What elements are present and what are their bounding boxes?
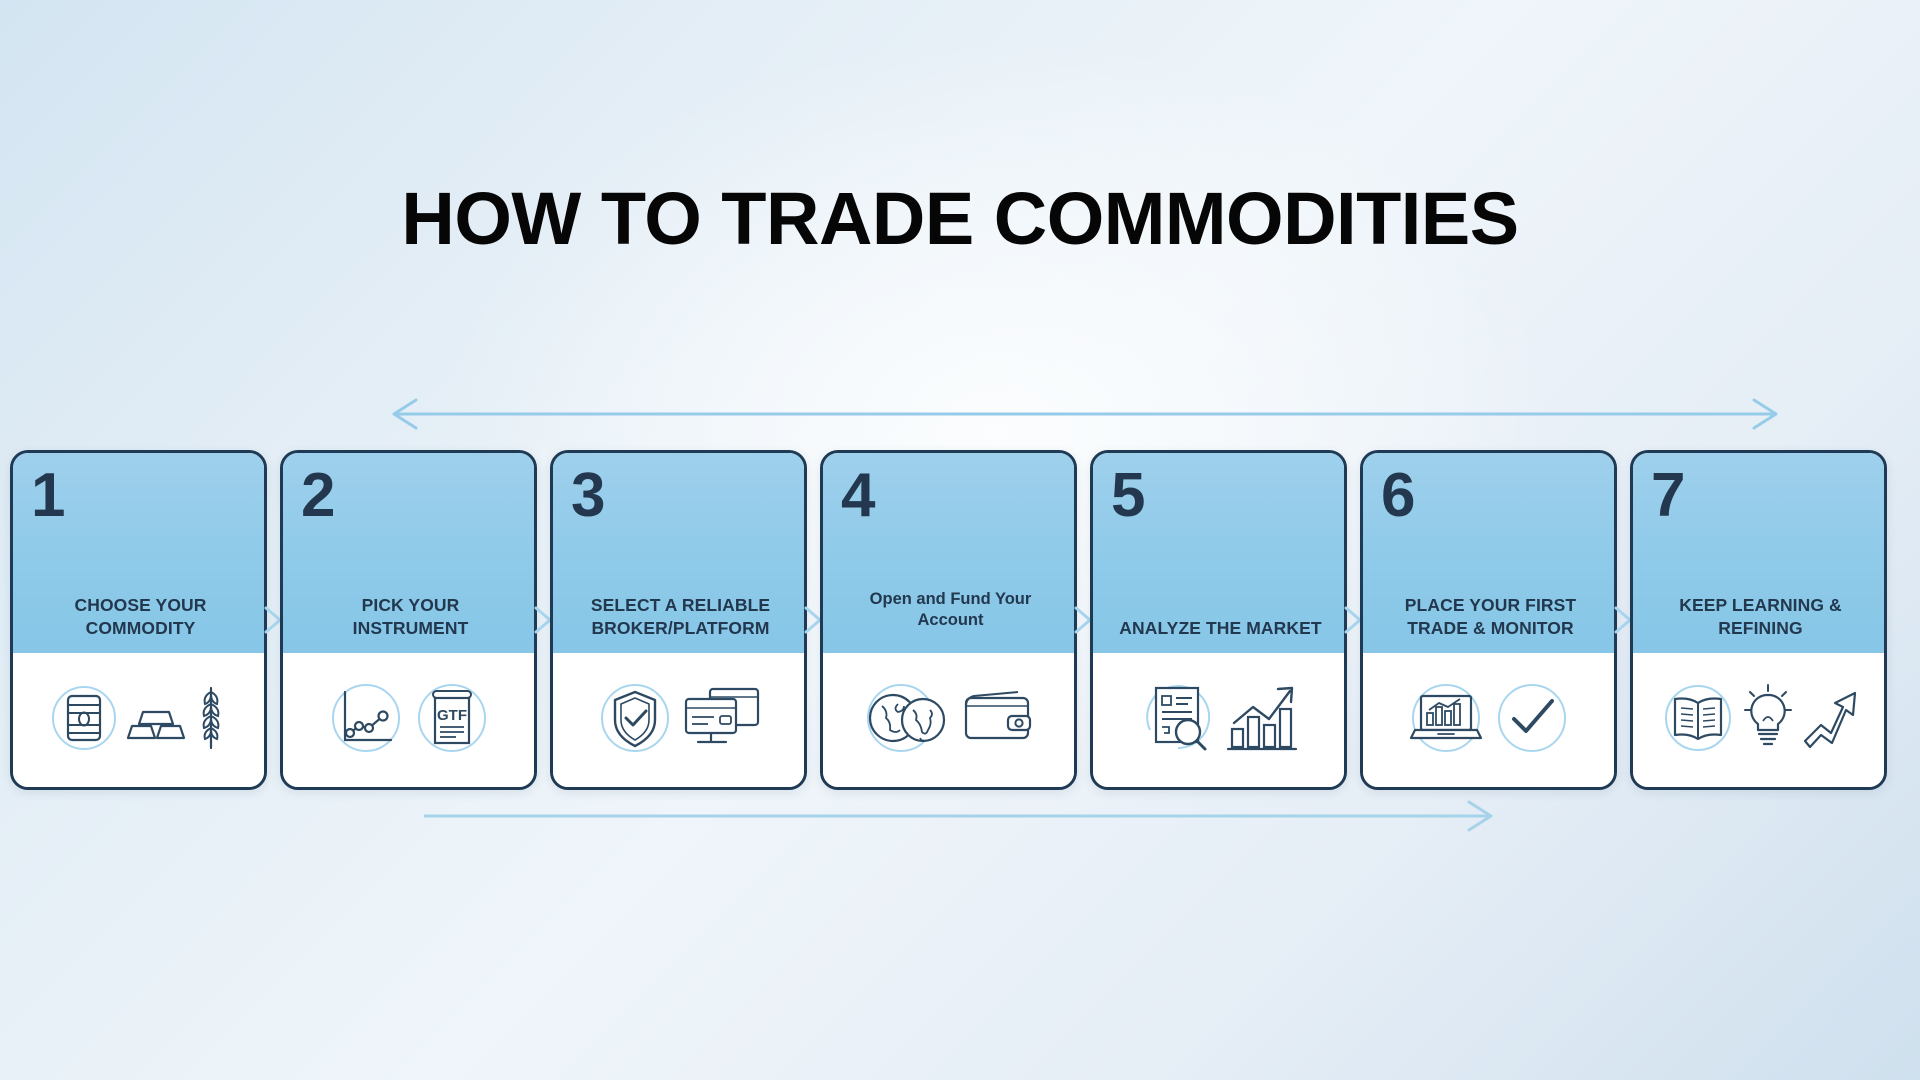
gtf-label: GTF — [437, 707, 467, 724]
gtf-certificate-icon: GTF — [411, 678, 493, 756]
document-magnifier-icon — [1136, 678, 1220, 756]
step-icons-2: GTF — [283, 653, 534, 787]
step-number-4: 4 — [841, 467, 1060, 526]
wallet-icon — [960, 686, 1038, 748]
laptop-chart-icon — [1405, 678, 1487, 756]
step-icons-6 — [1363, 653, 1614, 787]
step-number-5: 5 — [1111, 467, 1330, 526]
step-header-5: 5 ANALYZE THE MARKET — [1093, 453, 1344, 653]
bar-chart-growth-icon — [1224, 679, 1302, 755]
step-card-5[interactable]: 5 ANALYZE THE MARKET — [1090, 450, 1347, 790]
wheat-icon — [191, 680, 231, 754]
step-icons-3 — [553, 653, 804, 787]
step-header-3: 3 SELECT A RELIABLE BROKER/PLATFORM — [553, 453, 804, 653]
step-header-7: 7 KEEP LEARNING & REFINING — [1633, 453, 1884, 653]
top-flow-arrow — [380, 398, 1790, 430]
checkmark-circle-icon — [1491, 678, 1573, 756]
step-label-3: SELECT A RELIABLE BROKER/PLATFORM — [571, 594, 790, 639]
step-card-2[interactable]: 2 PICK YOUR INSTRUMENT GTF — [280, 450, 537, 790]
connector-5-6 — [1347, 600, 1360, 640]
step-icons-7 — [1633, 653, 1884, 787]
oil-barrel-icon — [47, 680, 121, 754]
step-label-4: Open and Fund Your Account — [841, 589, 1060, 631]
step-card-1[interactable]: 1 CHOOSE YOUR COMMODITY — [10, 450, 267, 790]
shield-check-icon — [594, 678, 676, 756]
bottom-flow-arrow — [420, 800, 1505, 832]
globe-icon — [860, 678, 956, 756]
step-icons-5 — [1093, 653, 1344, 787]
step-label-2: PICK YOUR INSTRUMENT — [301, 594, 520, 639]
step-card-3[interactable]: 3 SELECT A RELIABLE BROKER/PLATFORM — [550, 450, 807, 790]
step-number-6: 6 — [1381, 467, 1600, 526]
step-header-2: 2 PICK YOUR INSTRUMENT — [283, 453, 534, 653]
open-book-icon — [1659, 679, 1737, 755]
step-number-1: 1 — [31, 467, 250, 526]
connector-2-3 — [537, 600, 550, 640]
desktop-monitor-icon — [680, 681, 764, 753]
step-header-1: 1 CHOOSE YOUR COMMODITY — [13, 453, 264, 653]
step-header-6: 6 PLACE YOUR FIRST TRADE & MONITOR — [1363, 453, 1614, 653]
line-chart-icon — [325, 678, 407, 756]
step-card-4[interactable]: 4 Open and Fund Your Account — [820, 450, 1077, 790]
step-label-7: KEEP LEARNING & REFINING — [1651, 594, 1870, 639]
growth-arrow-icon — [1799, 681, 1859, 753]
connector-6-7 — [1617, 600, 1630, 640]
step-icons-4 — [823, 653, 1074, 787]
connector-4-5 — [1077, 600, 1090, 640]
step-card-6[interactable]: 6 PLACE YOUR FIRST TRADE & MONITOR — [1360, 450, 1617, 790]
page-title: HOW TO TRADE COMMODITIES — [0, 176, 1920, 261]
connector-3-4 — [807, 600, 820, 640]
connector-1-2 — [267, 600, 280, 640]
step-label-5: ANALYZE THE MARKET — [1111, 617, 1330, 639]
step-number-2: 2 — [301, 467, 520, 526]
step-number-3: 3 — [571, 467, 790, 526]
step-label-6: PLACE YOUR FIRST TRADE & MONITOR — [1381, 594, 1600, 639]
steps-container: 1 CHOOSE YOUR COMMODITY — [10, 450, 1910, 790]
step-icons-1 — [13, 653, 264, 787]
lightbulb-icon — [1741, 681, 1795, 753]
step-number-7: 7 — [1651, 467, 1870, 526]
step-label-1: CHOOSE YOUR COMMODITY — [31, 594, 250, 639]
gold-bars-icon — [125, 686, 187, 748]
step-header-4: 4 Open and Fund Your Account — [823, 453, 1074, 653]
step-card-7[interactable]: 7 KEEP LEARNING & REFINING — [1630, 450, 1887, 790]
